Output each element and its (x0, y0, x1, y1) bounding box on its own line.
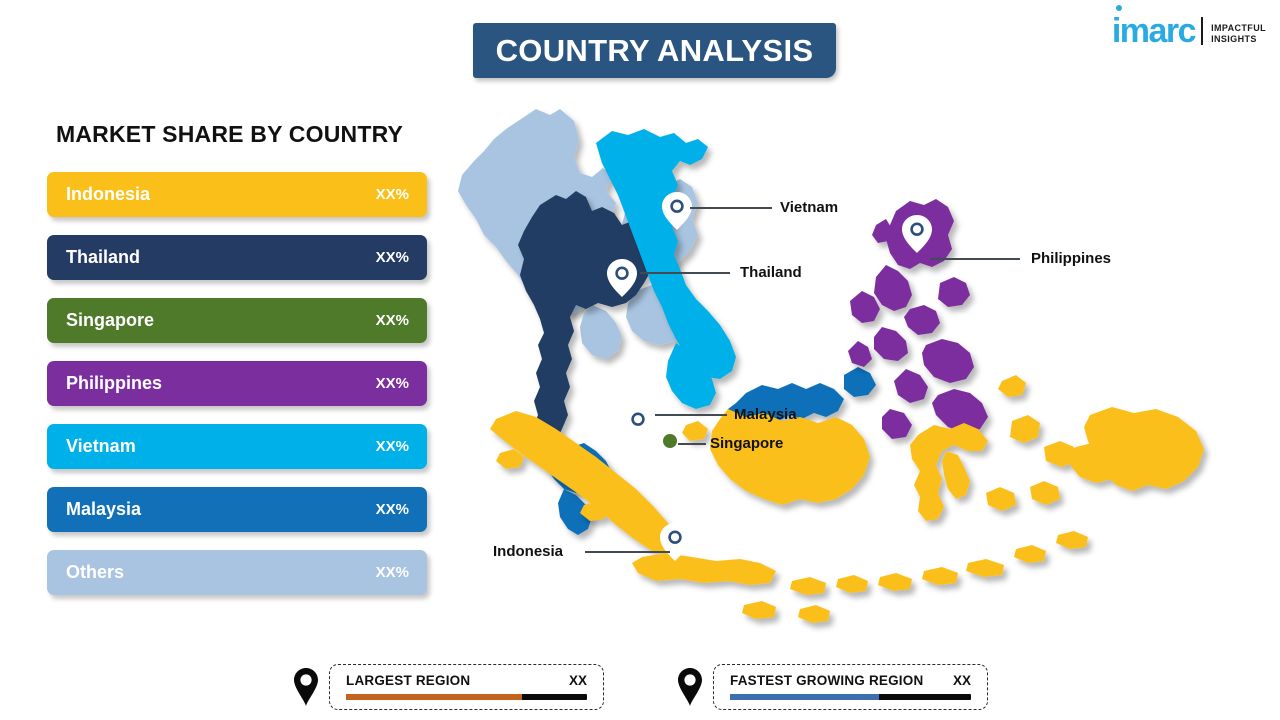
market-share-bar-singapore[interactable]: Singapore XX% (47, 298, 427, 343)
legend-progress-track (346, 694, 587, 700)
bar-value: XX% (376, 438, 409, 455)
bottom-legend: LARGEST REGION XX FASTEST GROWING REGION… (0, 664, 1280, 710)
map-callout-singapore: Singapore (710, 435, 783, 452)
logo-wordmark-text: imarc (1112, 12, 1195, 50)
legend-box: FASTEST GROWING REGION XX (713, 664, 988, 710)
legend-largest-region[interactable]: LARGEST REGION XX (292, 664, 604, 710)
market-share-bar-vietnam[interactable]: Vietnam XX% (47, 424, 427, 469)
logo-tagline: IMPACTFUL INSIGHTS (1211, 23, 1266, 49)
bar-label: Vietnam (66, 436, 376, 457)
logo-tagline-line2: INSIGHTS (1211, 34, 1266, 45)
leader-line-vietnam (690, 207, 772, 209)
market-share-bar-others[interactable]: Others XX% (47, 550, 427, 595)
bar-value: XX% (376, 249, 409, 266)
logo-tagline-line1: IMPACTFUL (1211, 23, 1266, 34)
legend-progress-fill (346, 694, 522, 700)
map-pin-malaysia[interactable] (623, 405, 653, 443)
legend-fastest-growing-region[interactable]: FASTEST GROWING REGION XX (676, 664, 988, 710)
leader-line-philippines (930, 258, 1020, 260)
market-share-bar-philippines[interactable]: Philippines XX% (47, 361, 427, 406)
bar-label: Thailand (66, 247, 376, 268)
location-pin-icon (292, 667, 320, 707)
legend-value: XX (569, 673, 587, 688)
map-callout-thailand: Thailand (740, 264, 802, 281)
map-region-indonesia (490, 375, 1204, 623)
logo-dot-icon (1116, 5, 1122, 11)
map-callout-malaysia: Malaysia (734, 406, 797, 423)
legend-row: LARGEST REGION XX (346, 673, 587, 688)
map-callout-vietnam: Vietnam (780, 199, 838, 216)
leader-line-thailand (640, 272, 730, 274)
market-share-heading: MARKET SHARE BY COUNTRY (56, 121, 403, 148)
market-share-bar-list: Indonesia XX% Thailand XX% Singapore XX%… (47, 172, 427, 613)
bar-label: Philippines (66, 373, 376, 394)
map-callout-indonesia: Indonesia (493, 543, 563, 560)
market-share-bar-thailand[interactable]: Thailand XX% (47, 235, 427, 280)
legend-progress-fill (730, 694, 879, 700)
leader-line-malaysia (655, 414, 727, 416)
bar-value: XX% (376, 375, 409, 392)
leader-line-singapore (678, 443, 706, 445)
location-pin-icon (676, 667, 704, 707)
legend-box: LARGEST REGION XX (329, 664, 604, 710)
map-dot-singapore[interactable] (663, 434, 677, 448)
logo-divider (1201, 17, 1203, 45)
market-share-bar-indonesia[interactable]: Indonesia XX% (47, 172, 427, 217)
bar-label: Malaysia (66, 499, 376, 520)
legend-row: FASTEST GROWING REGION XX (730, 673, 971, 688)
bar-value: XX% (376, 501, 409, 518)
bar-value: XX% (376, 186, 409, 203)
legend-title: FASTEST GROWING REGION (730, 673, 923, 688)
bar-label: Others (66, 562, 376, 583)
page-title-banner: COUNTRY ANALYSIS (473, 23, 836, 78)
bar-value: XX% (376, 564, 409, 581)
market-share-bar-malaysia[interactable]: Malaysia XX% (47, 487, 427, 532)
map-callout-philippines: Philippines (1031, 250, 1111, 267)
bar-label: Indonesia (66, 184, 376, 205)
legend-title: LARGEST REGION (346, 673, 470, 688)
leader-line-indonesia (585, 551, 670, 553)
bar-value: XX% (376, 312, 409, 329)
imarc-logo: imarc IMPACTFUL INSIGHTS (1112, 14, 1266, 48)
bar-label: Singapore (66, 310, 376, 331)
legend-value: XX (953, 673, 971, 688)
legend-progress-track (730, 694, 971, 700)
page-title: COUNTRY ANALYSIS (496, 33, 814, 69)
logo-wordmark: imarc (1112, 14, 1195, 48)
